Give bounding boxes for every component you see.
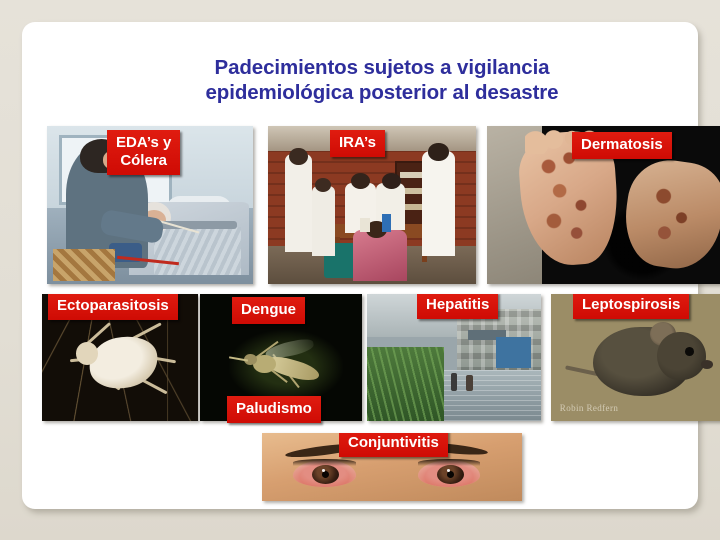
photo-hepatitis[interactable]: Hepatitis <box>367 294 541 421</box>
slide: Padecimientos sujetos a vigilancia epide… <box>0 0 720 540</box>
page-title: Padecimientos sujetos a vigilancia epide… <box>62 55 702 105</box>
photo-label-ectoparasitosis: Ectoparasitosis <box>48 294 178 320</box>
title-line-2: epidemiológica posterior al desastre <box>62 80 702 105</box>
photo-label-conjuntivitis: Conjuntivitis <box>339 433 448 457</box>
photo-iras[interactable]: IRA’s <box>268 126 476 284</box>
photo-label-edas-colera: EDA’s y Cólera <box>107 130 180 175</box>
title-line-1: Padecimientos sujetos a vigilancia <box>215 56 550 79</box>
photo-ectoparasitosis[interactable]: Ectoparasitosis <box>42 294 198 421</box>
photo-conjuntivitis[interactable]: Conjuntivitis <box>262 433 522 501</box>
photo-label-hepatitis: Hepatitis <box>417 294 498 319</box>
photo-label-dermatosis: Dermatosis <box>572 132 672 159</box>
photo-leptospirosis[interactable]: Robin Redfern Leptospirosis <box>551 294 720 421</box>
photo-label-iras: IRA’s <box>330 130 385 157</box>
photo-edas-colera[interactable]: EDA’s y Cólera <box>47 126 253 284</box>
photo-watermark: Robin Redfern <box>560 403 618 413</box>
photo-label-paludismo: Paludismo <box>227 396 321 423</box>
photo-label-dengue: Dengue <box>232 297 305 324</box>
slide-content-card: Padecimientos sujetos a vigilancia epide… <box>22 22 698 509</box>
photo-label-leptospirosis: Leptospirosis <box>573 294 689 319</box>
photo-dermatosis[interactable]: Dermatosis <box>487 126 720 284</box>
